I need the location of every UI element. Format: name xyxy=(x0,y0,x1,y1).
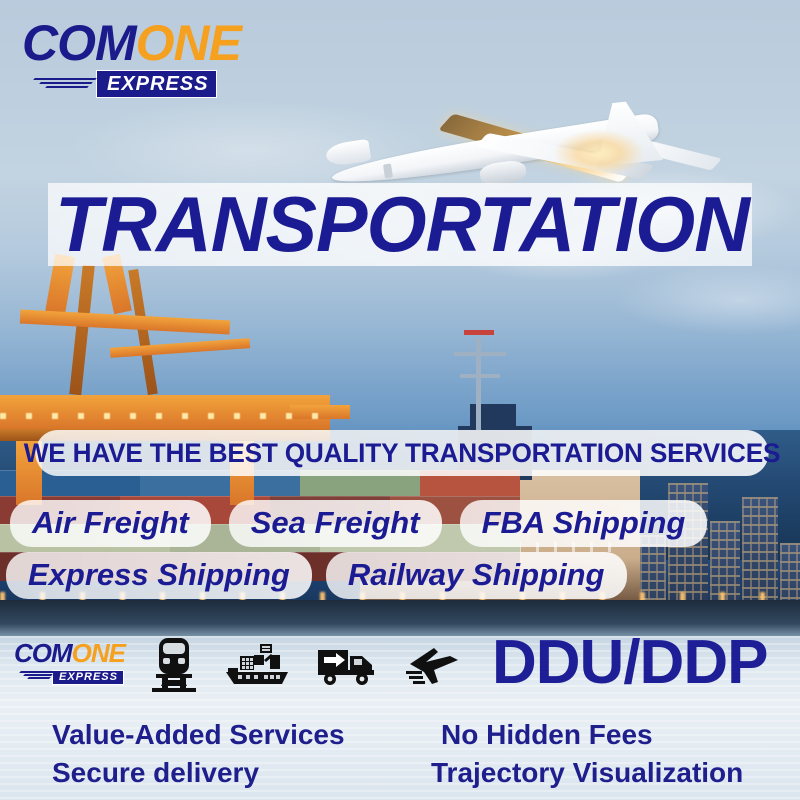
brand-name-com-small: COM xyxy=(14,638,72,668)
service-pill-fba-shipping[interactable]: FBA Shipping xyxy=(460,500,708,547)
feature-secure-delivery: Secure delivery xyxy=(52,759,421,787)
incoterms-label: DDU/DDP xyxy=(492,632,767,694)
brand-name-one-small: ONE xyxy=(72,638,125,668)
feature-list: Value-Added Services Secure delivery No … xyxy=(0,708,800,800)
transport-mode-icons xyxy=(150,634,460,696)
transportation-banner: COMONE EXPRESS TRANSPORTATION WE HAVE TH… xyxy=(0,0,800,800)
brand-sub-row-small: EXPRESS xyxy=(14,667,125,685)
brand-name-one: ONE xyxy=(136,15,241,71)
service-pill-row-2: Express Shipping Railway Shipping xyxy=(6,552,627,599)
service-pill-railway-shipping[interactable]: Railway Shipping xyxy=(326,552,627,599)
train-icon xyxy=(150,636,198,694)
speed-lines-icon-small xyxy=(20,671,54,680)
cargo-ship-icon xyxy=(224,642,290,688)
brand-name-com: COM xyxy=(22,15,136,71)
hero-title: TRANSPORTATION xyxy=(56,184,749,264)
service-pill-row-1: Air Freight Sea Freight FBA Shipping xyxy=(10,500,707,547)
service-pill-sea-freight[interactable]: Sea Freight xyxy=(229,500,442,547)
airplane-icon xyxy=(404,642,460,688)
brand-wordmark: COMONE xyxy=(22,18,241,68)
feature-trajectory-visualization: Trajectory Visualization xyxy=(431,759,800,787)
brand-logo[interactable]: COMONE EXPRESS xyxy=(22,18,241,98)
brand-sub-express-small: EXPRESS xyxy=(52,670,124,685)
feature-no-hidden-fees: No Hidden Fees xyxy=(431,721,800,749)
truck-icon xyxy=(316,644,378,686)
hero-tagline: WE HAVE THE BEST QUALITY TRANSPORTATION … xyxy=(35,430,768,476)
brand-sub-express: EXPRESS xyxy=(96,70,217,98)
brand-wordmark-small: COMONE xyxy=(14,640,125,666)
service-pill-express-shipping[interactable]: Express Shipping xyxy=(6,552,312,599)
feature-column-right: No Hidden Fees Trajectory Visualization xyxy=(421,708,800,800)
speed-lines-icon xyxy=(34,78,96,90)
brand-sub-row: EXPRESS xyxy=(22,70,241,98)
feature-column-left: Value-Added Services Secure delivery xyxy=(0,708,421,800)
service-pill-air-freight[interactable]: Air Freight xyxy=(10,500,211,547)
brand-logo-small[interactable]: COMONE EXPRESS xyxy=(14,640,125,685)
feature-value-added-services: Value-Added Services xyxy=(52,721,421,749)
